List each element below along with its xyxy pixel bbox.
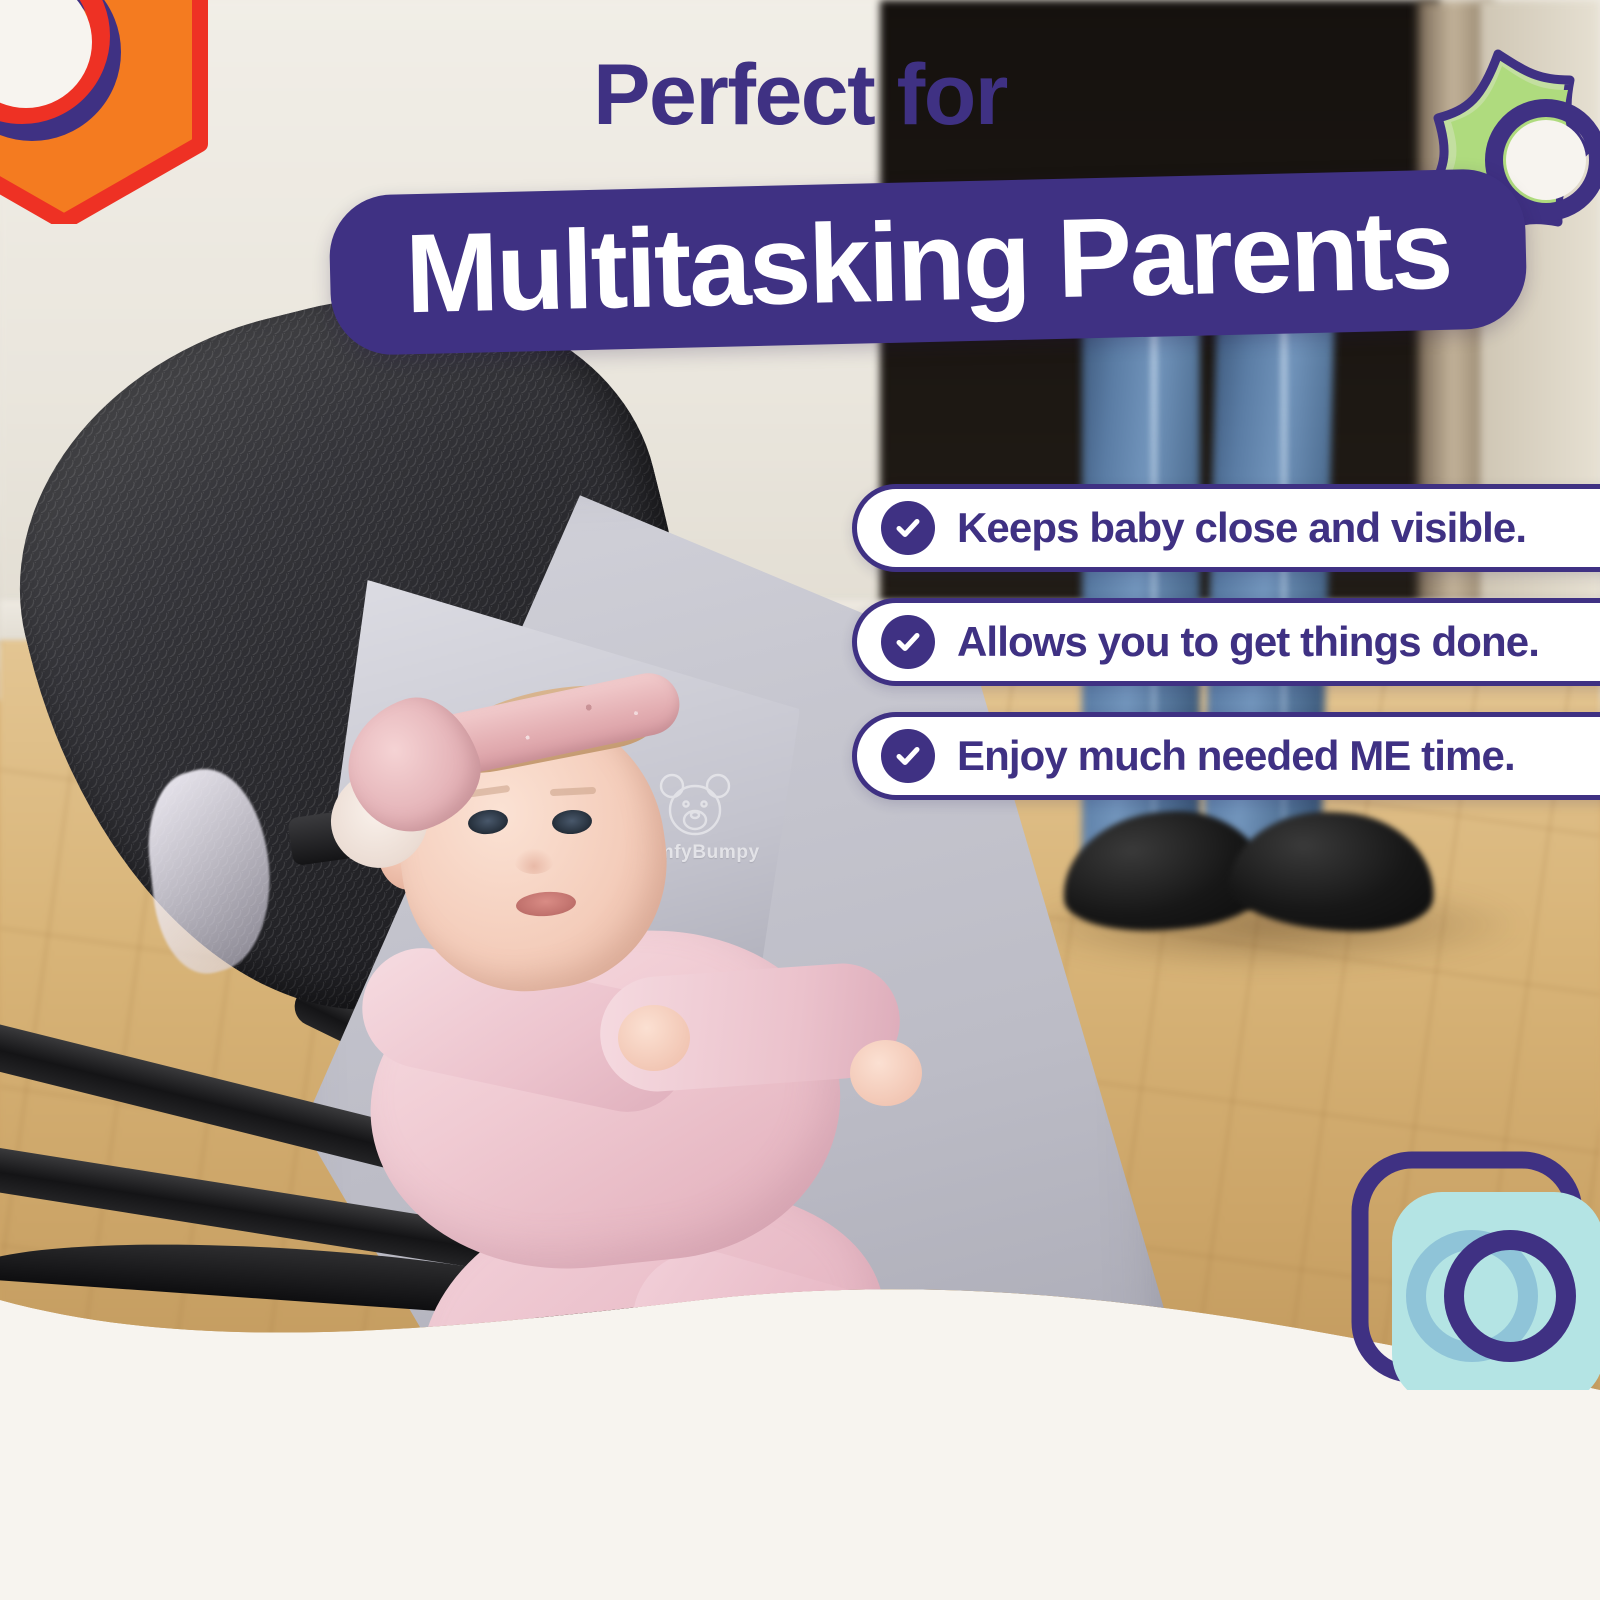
feature-pill[interactable]: Enjoy much needed ME time. [852,712,1600,800]
baby-hand-right [850,1040,922,1106]
check-circle-icon [881,729,935,783]
baby-nose [514,848,554,874]
feature-pill[interactable]: Allows you to get things done. [852,598,1600,686]
feature-pill-label: Enjoy much needed ME time. [957,732,1515,780]
rounded-square-ring-logo-icon [1348,1148,1600,1406]
baby-hand-left [618,1005,690,1071]
feature-pill[interactable]: Keeps baby close and visible. [852,484,1600,572]
feature-pill-label: Allows you to get things done. [957,618,1539,666]
check-circle-icon [881,501,935,555]
check-circle-icon [881,615,935,669]
seat-shadow [380,1380,1100,1390]
feature-pill-label: Keeps baby close and visible. [957,504,1526,552]
baby-foot [827,1341,974,1390]
feature-list: Keeps baby close and visible. Allows you… [852,484,1600,826]
baby-toes [860,1358,963,1390]
headline-banner-text: Multitasking Parents [328,168,1527,356]
marketing-creative-canvas: ComfyBumpy [0,0,1600,1600]
certification-band: CPC Passes US Children Product Safety Re… [0,1390,1600,1600]
page-kicker: Perfect for [0,52,1600,138]
headline-banner: Multitasking Parents [328,168,1527,356]
